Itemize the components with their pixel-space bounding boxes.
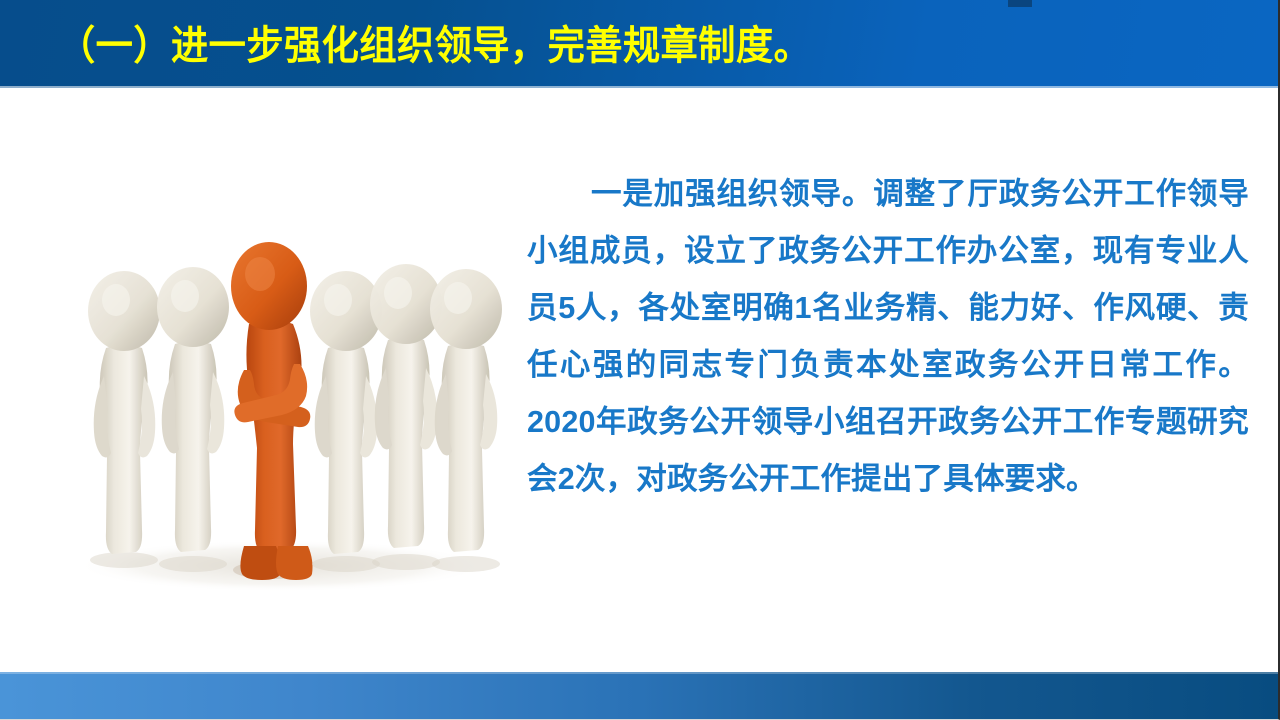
slide-footer-bar <box>0 672 1280 720</box>
figure-member-5 <box>430 269 502 572</box>
slide-content: 一是加强组织领导。调整了厅政务公开工作领导小组成员，设立了政务公开工作办公室，现… <box>0 88 1280 672</box>
header-accent-strip <box>1008 0 1032 7</box>
slide-header-banner: （一）进一步强化组织领导，完善规章制度。 <box>0 0 1280 88</box>
figure-member-3 <box>310 271 382 572</box>
slide-title: （一）进一步强化组织领导，完善规章制度。 <box>58 16 1155 76</box>
body-paragraph: 一是加强组织领导。调整了厅政务公开工作领导小组成员，设立了政务公开工作办公室，现… <box>527 166 1249 508</box>
team-leader-figures-illustration <box>46 228 516 628</box>
presentation-slide: （一）进一步强化组织领导，完善规章制度。 <box>0 0 1280 720</box>
figure-leader-orange <box>231 242 313 580</box>
footer-top-highlight <box>0 672 1280 674</box>
figure-member-2 <box>157 267 229 572</box>
figure-member-1 <box>88 271 160 568</box>
